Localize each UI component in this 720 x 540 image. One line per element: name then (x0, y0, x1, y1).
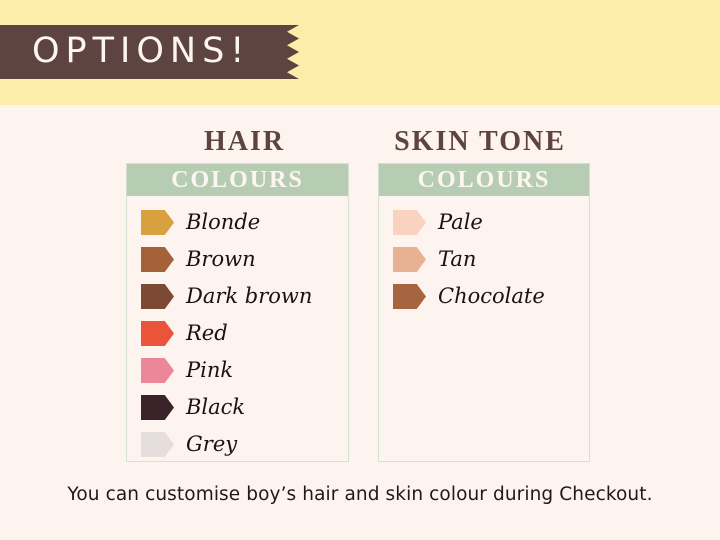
ribbon-torn-edge-icon (283, 25, 299, 79)
colour-swatch-brown[interactable] (141, 247, 174, 272)
colour-swatch-red[interactable] (141, 321, 174, 346)
colour-label: Grey (186, 434, 237, 455)
list-item[interactable]: Chocolate (379, 278, 589, 315)
list-item[interactable]: Dark brown (127, 278, 348, 315)
list-item[interactable]: Black (127, 389, 348, 426)
colour-swatch-blonde[interactable] (141, 210, 174, 235)
list-item[interactable]: Pink (127, 352, 348, 389)
colour-swatch-pink[interactable] (141, 358, 174, 383)
hair-colour-list: Blonde Brown Dark brown Red Pink Black G… (127, 196, 348, 463)
list-item[interactable]: Pale (379, 204, 589, 241)
skin-panel-header-label: COLOURS (418, 168, 551, 192)
footer-caption: You can customise boy’s hair and skin co… (0, 484, 720, 505)
colour-label: Brown (186, 249, 256, 270)
colour-label: Pale (438, 212, 483, 233)
hair-panel-header: COLOURS (127, 164, 348, 196)
hair-column-title: HAIR (126, 126, 363, 158)
skin-tone-column-title: SKIN TONE (378, 126, 582, 158)
colour-swatch-chocolate[interactable] (393, 284, 426, 309)
colour-label: Dark brown (186, 286, 312, 307)
colour-label: Red (186, 323, 228, 344)
hair-panel-header-label: COLOURS (171, 168, 304, 192)
colour-label: Black (186, 397, 245, 418)
colour-label: Chocolate (438, 286, 545, 307)
colour-swatch-grey[interactable] (141, 432, 174, 457)
top-yellow-band: OPTIONS! (0, 0, 720, 105)
list-item[interactable]: Grey (127, 426, 348, 463)
skin-tone-colours-panel: COLOURS Pale Tan Chocolate (378, 163, 590, 462)
list-item[interactable]: Brown (127, 241, 348, 278)
colour-swatch-dark-brown[interactable] (141, 284, 174, 309)
skin-colour-list: Pale Tan Chocolate (379, 196, 589, 315)
colour-swatch-pale[interactable] (393, 210, 426, 235)
banner-title: OPTIONS! (32, 31, 250, 71)
options-ribbon: OPTIONS! (0, 25, 300, 79)
colour-label: Blonde (186, 212, 260, 233)
list-item[interactable]: Red (127, 315, 348, 352)
skin-panel-header: COLOURS (379, 164, 589, 196)
list-item[interactable]: Tan (379, 241, 589, 278)
list-item[interactable]: Blonde (127, 204, 348, 241)
colour-swatch-black[interactable] (141, 395, 174, 420)
colour-swatch-tan[interactable] (393, 247, 426, 272)
colour-label: Tan (438, 249, 476, 270)
hair-colours-panel: COLOURS Blonde Brown Dark brown Red Pink… (126, 163, 349, 462)
colour-label: Pink (186, 360, 233, 381)
